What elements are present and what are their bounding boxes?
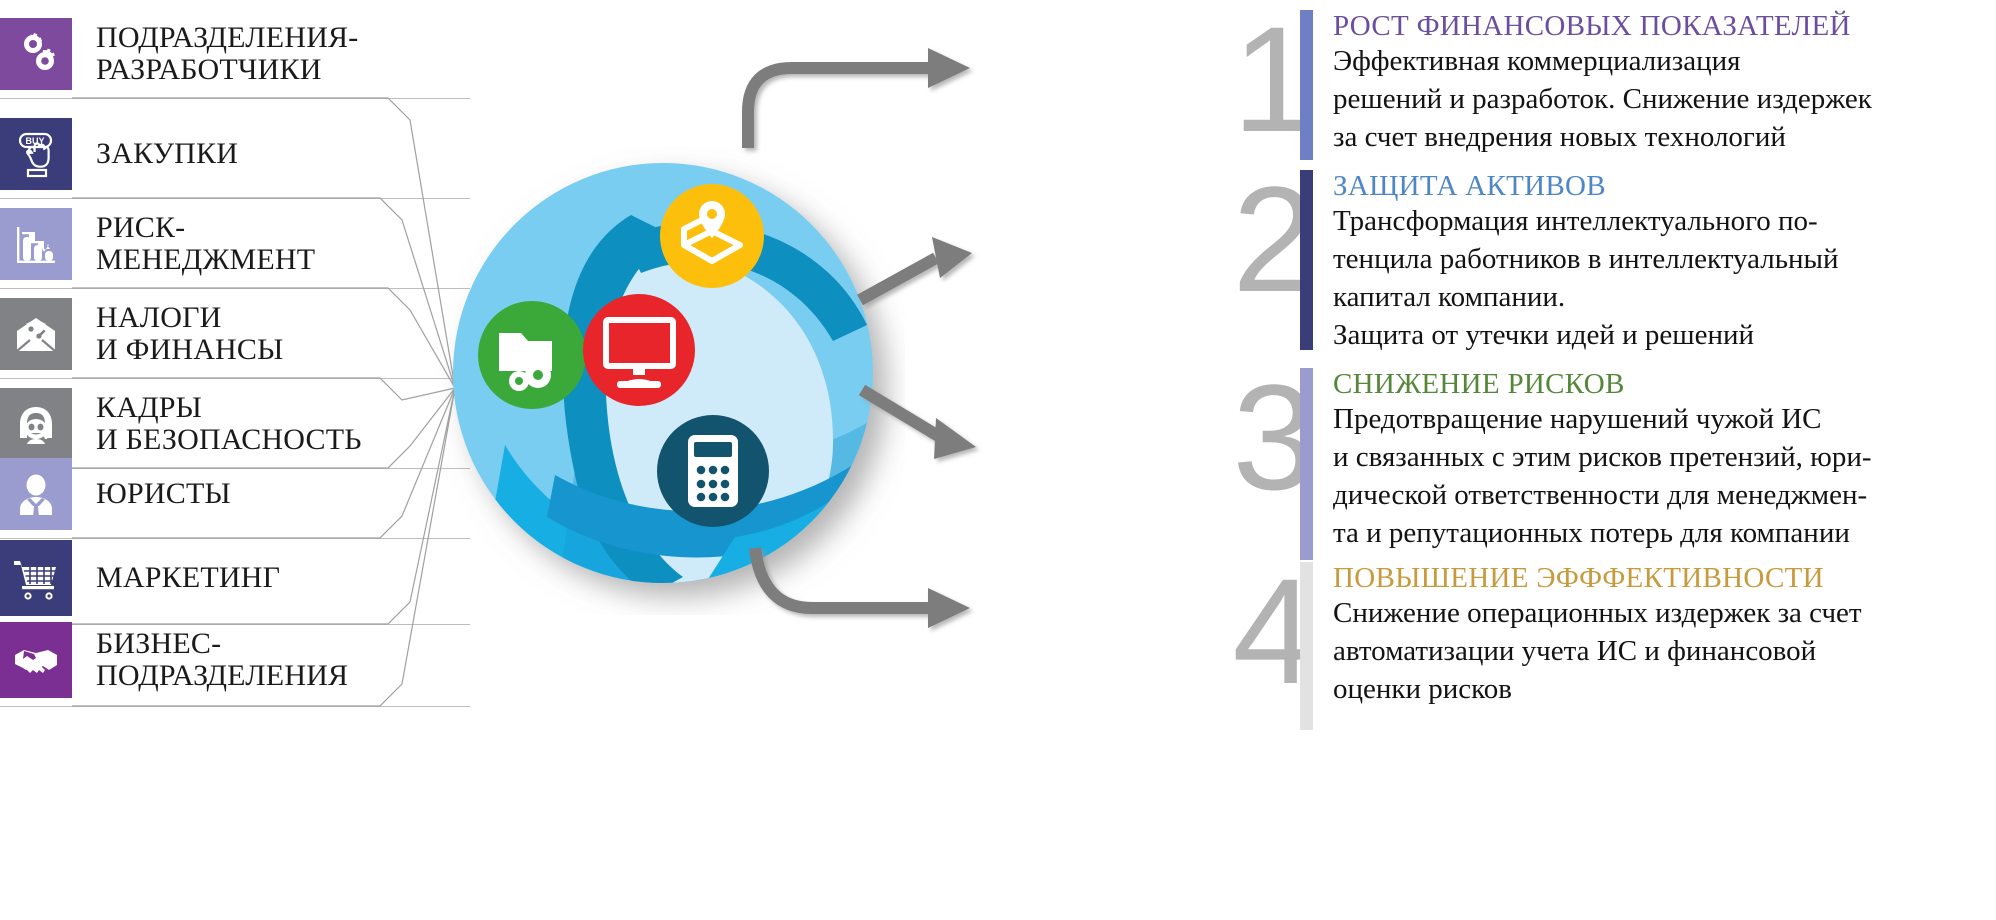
connector-line-5	[72, 388, 455, 468]
connector-line-4	[72, 378, 455, 400]
arrow-to-benefit-3	[862, 390, 940, 437]
connector-line-8	[72, 388, 455, 706]
benefit-accent-bar	[1300, 170, 1313, 350]
benefit-text-wrap: ПОВЫШЕНИЕ ЭФФФЕКТИВНОСТИСнижение операци…	[1333, 562, 1862, 730]
benefit-body: Трансформация интеллектуального по- тенц…	[1333, 203, 1839, 354]
connector-line-3	[72, 288, 455, 388]
arrow-to-benefit-1	[748, 68, 932, 148]
globe-node-folder-gears	[478, 301, 586, 409]
arrowhead-4	[928, 588, 970, 628]
arrowhead-2	[932, 237, 972, 278]
globe-node-monitor	[583, 294, 695, 406]
arrowhead-1	[928, 48, 970, 88]
benefit-text-wrap: СНИЖЕНИЕ РИСКОВПредотвращение нарушений …	[1333, 368, 1872, 560]
benefit-text-wrap: РОСТ ФИНАНСОВЫХ ПОКАЗАТЕЛЕЙЭффективная к…	[1333, 10, 1872, 160]
benefit-block-1[interactable]: РОСТ ФИНАНСОВЫХ ПОКАЗАТЕЛЕЙЭффективная к…	[1300, 10, 1990, 160]
benefit-body: Предотвращение нарушений чужой ИС и связ…	[1333, 401, 1872, 552]
benefit-body: Снижение операционных издержек за счет а…	[1333, 595, 1862, 708]
benefit-text-wrap: ЗАЩИТА АКТИВОВТрансформация интеллектуал…	[1333, 170, 1839, 350]
benefit-block-2[interactable]: ЗАЩИТА АКТИВОВТрансформация интеллектуал…	[1300, 170, 1990, 350]
connector-line-7	[72, 388, 455, 624]
benefit-body: Эффективная коммерциализация решений и р…	[1333, 43, 1872, 156]
benefit-title: ЗАЩИТА АКТИВОВ	[1333, 170, 1839, 202]
arrow-to-benefit-2	[860, 258, 936, 300]
benefit-title: РОСТ ФИНАНСОВЫХ ПОКАЗАТЕЛЕЙ	[1333, 10, 1872, 42]
arrowhead-3	[934, 418, 976, 459]
benefit-block-4[interactable]: ПОВЫШЕНИЕ ЭФФФЕКТИВНОСТИСнижение операци…	[1300, 562, 1990, 730]
benefit-accent-bar	[1300, 562, 1313, 730]
benefit-title: ПОВЫШЕНИЕ ЭФФФЕКТИВНОСТИ	[1333, 562, 1862, 594]
arrow-to-benefit-4	[755, 548, 932, 608]
benefit-accent-bar	[1300, 10, 1313, 160]
connector-line-6	[72, 388, 455, 538]
benefit-block-3[interactable]: СНИЖЕНИЕ РИСКОВПредотвращение нарушений …	[1300, 368, 1990, 560]
connector-line-2	[72, 198, 455, 388]
connector-line-1	[72, 98, 455, 388]
benefit-title: СНИЖЕНИЕ РИСКОВ	[1333, 368, 1872, 400]
benefit-accent-bar	[1300, 368, 1313, 560]
